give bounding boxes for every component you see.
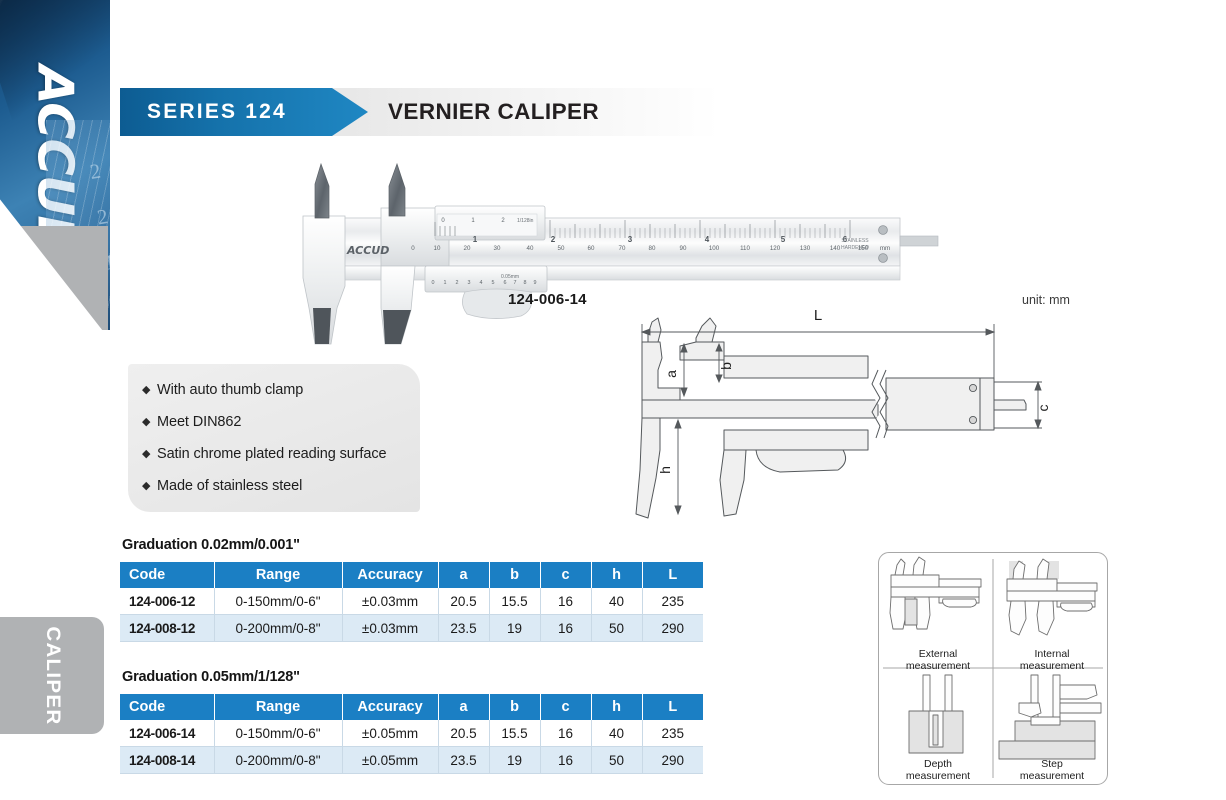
cell-c: 16	[540, 615, 591, 642]
cell-L: 235	[642, 588, 703, 615]
cell-h: 50	[591, 747, 642, 774]
svg-text:3: 3	[628, 235, 633, 244]
caliper-icon	[30, 358, 82, 463]
svg-text:90: 90	[680, 245, 687, 252]
cell-b: 19	[489, 747, 540, 774]
dimension-label-L: L	[814, 307, 822, 324]
cell-L: 290	[642, 615, 703, 642]
sidebar-category-tab-label: CALIPER	[41, 626, 63, 725]
cell-c: 16	[540, 747, 591, 774]
cell-h: 40	[591, 720, 642, 747]
feature-text: Meet DIN862	[157, 414, 241, 431]
svg-text:2: 2	[551, 235, 556, 244]
dimension-label-a: a	[663, 370, 679, 378]
cell-a: 20.5	[438, 588, 489, 615]
svg-text:2: 2	[456, 280, 459, 286]
svg-text:5: 5	[492, 280, 495, 286]
svg-text:1: 1	[444, 280, 447, 286]
svg-text:9: 9	[534, 280, 537, 286]
svg-text:1: 1	[473, 235, 478, 244]
cell-code: 124-008-12	[120, 615, 214, 642]
features-callout: ◆ With auto thumb clamp ◆ Meet DIN862 ◆ …	[128, 364, 420, 512]
cell-c: 16	[540, 720, 591, 747]
feature-text: With auto thumb clamp	[157, 382, 303, 399]
cell-range: 0-150mm/0-6"	[214, 588, 342, 615]
col-header-b: b	[489, 694, 540, 720]
col-header-code: Code	[120, 694, 214, 720]
cell-a: 20.5	[438, 720, 489, 747]
cell-b: 15.5	[489, 720, 540, 747]
svg-text:0: 0	[432, 280, 435, 286]
table-header-row: Code Range Accuracy a b c h L	[120, 694, 703, 720]
feature-item: ◆ With auto thumb clamp	[142, 382, 404, 399]
svg-text:3: 3	[468, 280, 471, 286]
col-header-a: a	[438, 694, 489, 720]
cell-range: 0-200mm/0-8"	[214, 615, 342, 642]
bullet-diamond-icon: ◆	[142, 478, 157, 495]
measurement-caption-internal: Internal measurement	[1003, 649, 1101, 672]
cell-code: 124-006-14	[120, 720, 214, 747]
cell-b: 19	[489, 615, 540, 642]
svg-text:7: 7	[514, 280, 517, 286]
cell-h: 50	[591, 615, 642, 642]
svg-text:HARDENED: HARDENED	[841, 245, 869, 251]
table-header-row: Code Range Accuracy a b c h L	[120, 562, 703, 588]
svg-text:130: 130	[800, 245, 811, 252]
svg-text:STAINLESS: STAINLESS	[841, 238, 869, 244]
table-row[interactable]: 124-008-12 0-200mm/0-8" ±0.03mm 23.5 19 …	[120, 615, 703, 642]
dimension-drawing: L a b h c	[628, 300, 1058, 535]
svg-text:4: 4	[480, 280, 483, 286]
svg-text:120: 120	[770, 245, 781, 252]
table-caption-2: Graduation 0.05mm/1/128"	[122, 669, 300, 685]
cell-accuracy: ±0.03mm	[342, 588, 438, 615]
col-header-L: L	[642, 694, 703, 720]
feature-text: Made of stainless steel	[157, 478, 302, 495]
svg-text:50: 50	[558, 245, 565, 252]
cell-range: 0-150mm/0-6"	[214, 720, 342, 747]
col-header-a: a	[438, 562, 489, 588]
feature-item: ◆ Meet DIN862	[142, 414, 404, 431]
dimension-label-c: c	[1035, 405, 1051, 412]
vernier-metric-label: 0.05mm	[501, 274, 519, 280]
col-header-accuracy: Accuracy	[342, 562, 438, 588]
svg-text:110: 110	[740, 245, 750, 252]
product-code-label: 124-006-14	[508, 291, 587, 308]
cell-accuracy: ±0.05mm	[342, 747, 438, 774]
col-header-code: Code	[120, 562, 214, 588]
col-header-accuracy: Accuracy	[342, 694, 438, 720]
svg-text:20: 20	[464, 245, 471, 252]
bullet-diamond-icon: ◆	[142, 446, 157, 463]
cell-L: 235	[642, 720, 703, 747]
table-row[interactable]: 124-006-12 0-150mm/0-6" ±0.03mm 20.5 15.…	[120, 588, 703, 615]
col-header-b: b	[489, 562, 540, 588]
col-header-c: c	[540, 562, 591, 588]
cell-L: 290	[642, 747, 703, 774]
col-header-range: Range	[214, 694, 342, 720]
col-header-c: c	[540, 694, 591, 720]
feature-text: Satin chrome plated reading surface	[157, 446, 386, 463]
svg-text:0: 0	[411, 245, 415, 252]
svg-text:10: 10	[434, 245, 441, 252]
svg-text:100: 100	[709, 245, 720, 252]
cell-accuracy: ±0.05mm	[342, 720, 438, 747]
measurement-caption-depth: Depth measurement	[893, 759, 983, 782]
series-banner: SERIES 124 VERNIER CALIPER	[120, 88, 720, 136]
feature-item: ◆ Satin chrome plated reading surface	[142, 446, 404, 463]
svg-text:5: 5	[781, 235, 786, 244]
ruler-tick: 2	[57, 148, 104, 200]
measurement-caption-external: External measurement	[893, 649, 983, 672]
svg-text:60: 60	[588, 245, 595, 252]
svg-text:30: 30	[494, 245, 501, 252]
svg-text:8: 8	[524, 280, 527, 286]
cell-code: 124-008-14	[120, 747, 214, 774]
col-header-L: L	[642, 562, 703, 588]
svg-text:40: 40	[527, 245, 534, 252]
svg-text:4: 4	[705, 235, 710, 244]
bullet-diamond-icon: ◆	[142, 414, 157, 431]
measurement-caption-step: Step measurement	[1003, 759, 1101, 782]
table-caption-1: Graduation 0.02mm/0.001"	[122, 537, 300, 553]
measurement-methods-panel: External measurement Internal measuremen…	[878, 552, 1108, 785]
cell-a: 23.5	[438, 747, 489, 774]
spec-table-1: Code Range Accuracy a b c h L 124-006-12…	[120, 562, 703, 642]
sidebar-category-tab[interactable]: CALIPER	[0, 617, 104, 734]
spec-table-2: Code Range Accuracy a b c h L 124-006-14…	[120, 694, 703, 774]
bullet-diamond-icon: ◆	[142, 382, 157, 399]
cell-h: 40	[591, 588, 642, 615]
table-row[interactable]: 124-008-14 0-200mm/0-8" ±0.05mm 23.5 19 …	[120, 747, 703, 774]
cell-a: 23.5	[438, 615, 489, 642]
series-label: SERIES 124	[147, 88, 287, 136]
sidebar: 2 2 1 ACCUD CALIPER	[0, 0, 110, 800]
svg-text:mm: mm	[880, 245, 890, 252]
feature-item: ◆ Made of stainless steel	[142, 478, 404, 495]
scale-brand-mark: ACCUD	[346, 244, 389, 257]
cell-accuracy: ±0.03mm	[342, 615, 438, 642]
page-title: VERNIER CALIPER	[388, 88, 599, 136]
svg-text:140: 140	[830, 245, 841, 252]
vernier-inch-label: 1/128in	[517, 218, 534, 224]
col-header-range: Range	[214, 562, 342, 588]
cell-range: 0-200mm/0-8"	[214, 747, 342, 774]
cell-code: 124-006-12	[120, 588, 214, 615]
col-header-h: h	[591, 562, 642, 588]
table-row[interactable]: 124-006-14 0-150mm/0-6" ±0.05mm 20.5 15.…	[120, 720, 703, 747]
svg-text:70: 70	[619, 245, 626, 252]
dimension-label-h: h	[657, 466, 673, 474]
dimension-label-b: b	[718, 362, 734, 370]
cell-c: 16	[540, 588, 591, 615]
svg-text:80: 80	[649, 245, 656, 252]
col-header-h: h	[591, 694, 642, 720]
cell-b: 15.5	[489, 588, 540, 615]
svg-text:6: 6	[504, 280, 507, 286]
